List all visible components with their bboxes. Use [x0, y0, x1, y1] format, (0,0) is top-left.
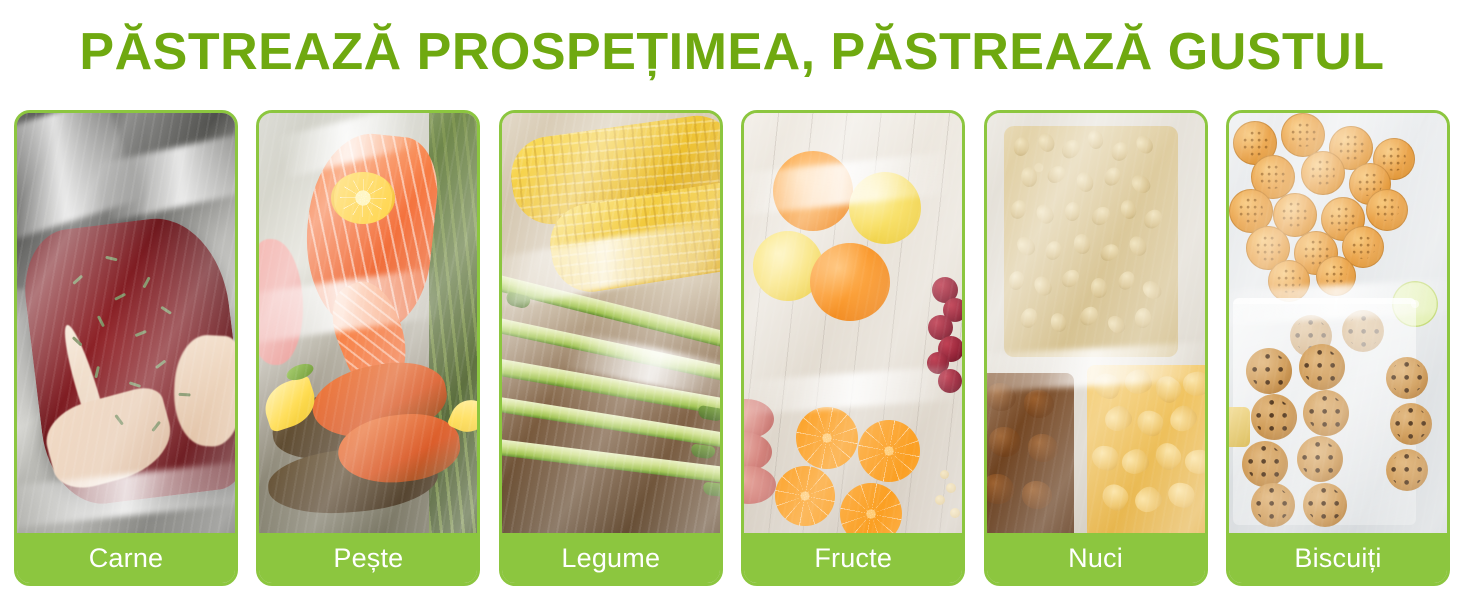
- card-label-peste: Pește: [259, 533, 477, 583]
- category-card-biscuiti[interactable]: Biscuiți: [1226, 110, 1450, 586]
- photo-peste: [259, 113, 477, 533]
- photo-fructe: [744, 113, 962, 533]
- category-card-fructe[interactable]: Fructe: [741, 110, 965, 586]
- photo-carne: [17, 113, 235, 533]
- card-label-fructe: Fructe: [744, 533, 962, 583]
- category-card-nuci[interactable]: Nuci: [984, 110, 1208, 586]
- photo-nuci: [987, 113, 1205, 533]
- category-card-strip: Carne: [0, 110, 1464, 588]
- category-card-carne[interactable]: Carne: [14, 110, 238, 586]
- card-label-carne: Carne: [17, 533, 235, 583]
- photo-legume: [502, 113, 720, 533]
- card-label-legume: Legume: [502, 533, 720, 583]
- card-label-biscuiti: Biscuiți: [1229, 533, 1447, 583]
- page-title: PĂSTREAZĂ PROSPEȚIMEA, PĂSTREAZĂ GUSTUL: [0, 22, 1464, 82]
- photo-biscuiti: [1229, 113, 1447, 533]
- promo-banner: PĂSTREAZĂ PROSPEȚIMEA, PĂSTREAZĂ GUSTUL: [0, 0, 1464, 600]
- category-card-legume[interactable]: Legume: [499, 110, 723, 586]
- card-label-nuci: Nuci: [987, 533, 1205, 583]
- category-card-peste[interactable]: Pește: [256, 110, 480, 586]
